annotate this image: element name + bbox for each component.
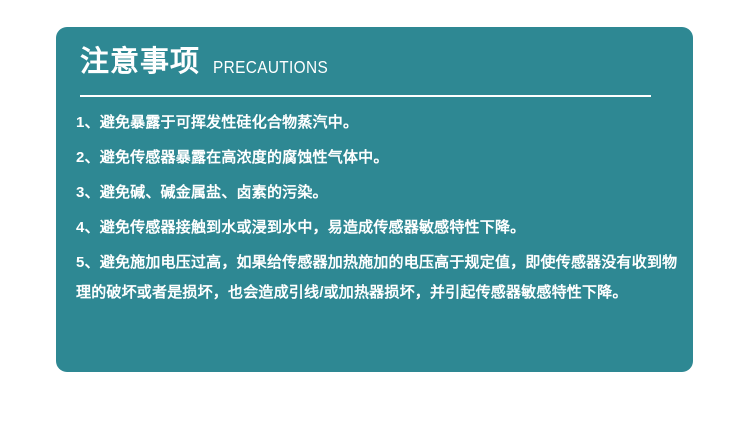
- header-divider: [80, 95, 651, 97]
- list-item: 1、避免暴露于可挥发性硅化合物蒸汽中。: [76, 108, 676, 138]
- precaution-list: 1、避免暴露于可挥发性硅化合物蒸汽中。 2、避免传感器暴露在高浓度的腐蚀性气体中…: [76, 108, 676, 308]
- list-item: 2、避免传感器暴露在高浓度的腐蚀性气体中。: [76, 143, 676, 173]
- list-item: 5、避免施加电压过高，如果给传感器加热施加的电压高于规定值，即使传感器没有收到物…: [76, 248, 691, 308]
- page-title-chinese: 注意事项: [80, 48, 200, 77]
- panel-header: 注意事项 PRECAUTIONS: [80, 48, 344, 77]
- list-item: 3、避免碱、碱金属盐、卤素的污染。: [76, 178, 676, 208]
- page-title-english: PRECAUTIONS: [213, 59, 328, 78]
- list-item: 4、避免传感器接触到水或浸到水中，易造成传感器敏感特性下降。: [76, 213, 676, 243]
- precautions-page: 注意事项 PRECAUTIONS 1、避免暴露于可挥发性硅化合物蒸汽中。 2、避…: [0, 0, 750, 434]
- precautions-panel: 注意事项 PRECAUTIONS 1、避免暴露于可挥发性硅化合物蒸汽中。 2、避…: [56, 27, 693, 372]
